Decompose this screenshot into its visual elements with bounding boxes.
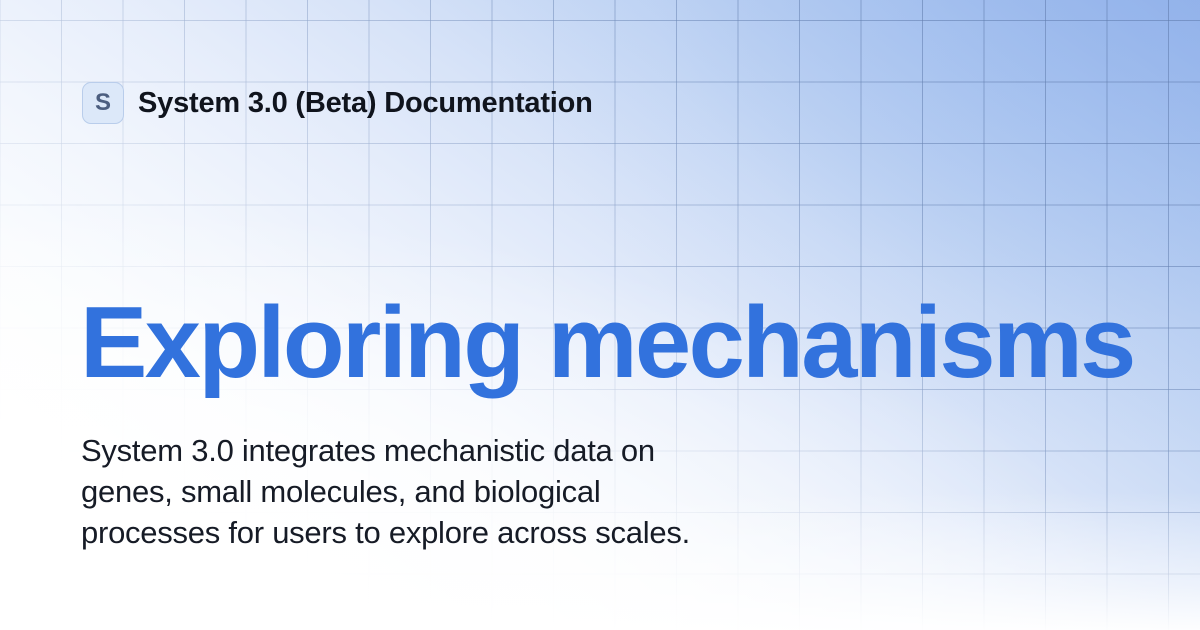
page-title: Exploring mechanisms [80, 293, 1134, 394]
brand-lockup[interactable]: S System 3.0 (Beta) Documentation [82, 82, 593, 124]
documentation-hero-card: S System 3.0 (Beta) Documentation Explor… [0, 0, 1200, 630]
page-subtitle: System 3.0 integrates mechanistic data o… [81, 430, 901, 553]
documentation-title: System 3.0 (Beta) Documentation [138, 87, 593, 120]
card-content: S System 3.0 (Beta) Documentation Explor… [0, 0, 1200, 630]
page-subtitle-line-3: processes for users to explore across sc… [81, 512, 901, 553]
system-logo-badge-icon: S [82, 82, 124, 124]
page-subtitle-line-1: System 3.0 integrates mechanistic data o… [81, 430, 901, 471]
page-subtitle-line-2: genes, small molecules, and biological [81, 471, 901, 512]
